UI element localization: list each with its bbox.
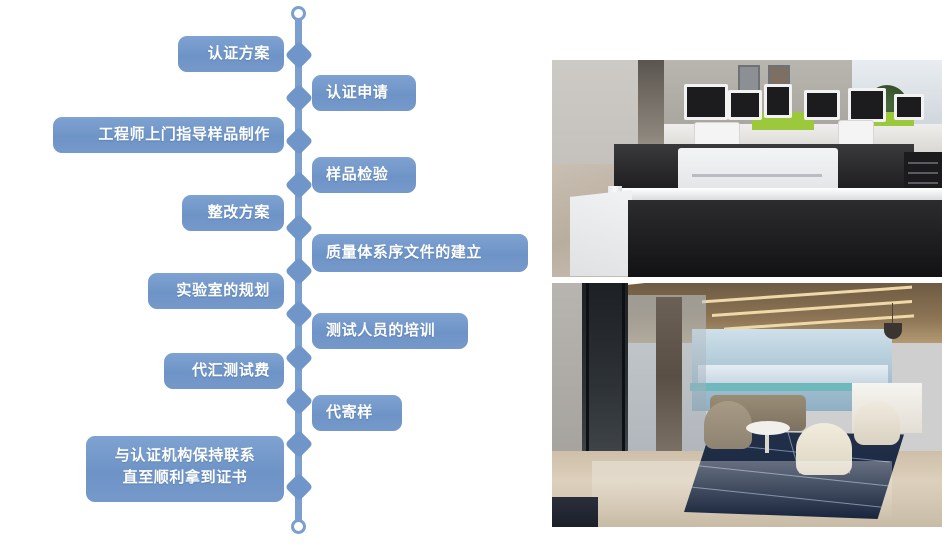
lounge-armchair-3 <box>854 401 900 445</box>
lounge-armchair-1 <box>704 401 752 449</box>
timeline-right-step-4[interactable]: 测试人员的培训 <box>312 313 468 349</box>
timeline-right-step-5-label: 代寄样 <box>326 402 373 424</box>
photo-monitor-4 <box>804 90 840 120</box>
lounge-floor-reflection <box>592 461 892 521</box>
timeline-left-step-4-label: 实验室的规划 <box>176 280 270 302</box>
photo-monitor-2 <box>728 90 762 120</box>
photo-glass-rail <box>610 188 942 200</box>
timeline-left-step-2-label: 工程师上门指导样品制作 <box>98 124 270 146</box>
timeline-node-5 <box>285 214 313 242</box>
photo-glass-divider <box>570 190 632 276</box>
lounge-pendant-wire <box>892 303 893 325</box>
photo-monitor-3 <box>764 84 792 118</box>
timeline-right-step-1[interactable]: 认证申请 <box>312 75 416 111</box>
timeline-node-4 <box>285 171 313 199</box>
timeline-top-endcap-icon <box>291 6 306 21</box>
timeline-node-3 <box>285 127 313 155</box>
timeline-infographic: 认证方案 工程师上门指导样品制作 整改方案 实验室的规划 代汇测试费 与认证机构… <box>0 0 942 545</box>
timeline-left-step-5-label: 代汇测试费 <box>192 360 270 382</box>
timeline-node-11 <box>285 473 313 501</box>
timeline-left-step-3[interactable]: 整改方案 <box>182 195 284 231</box>
timeline-right-step-3-label: 质量体系序文件的建立 <box>326 242 482 264</box>
timeline-node-9 <box>285 387 313 415</box>
photo-foreground-screen <box>628 200 942 277</box>
timeline-node-7 <box>285 300 313 328</box>
timeline-left-step-6-label-line1: 与认证机构保持联系 <box>102 445 268 467</box>
timeline-left-step-1[interactable]: 认证方案 <box>178 36 284 72</box>
timeline-right-step-5[interactable]: 代寄样 <box>312 395 402 431</box>
timeline-node-10 <box>285 430 313 458</box>
timeline-left-step-2[interactable]: 工程师上门指导样品制作 <box>53 117 284 153</box>
timeline-left-step-6-label-line2: 直至顺利拿到证书 <box>102 467 268 489</box>
timeline-left-step-3-label: 整改方案 <box>208 202 270 224</box>
photo-monitor-5 <box>848 88 886 122</box>
timeline-node-1 <box>285 41 313 69</box>
lounge-foreground-furniture <box>552 497 598 527</box>
lounge-mullion-2 <box>622 283 625 459</box>
timeline-right-step-2[interactable]: 样品检验 <box>312 157 416 193</box>
timeline-node-6 <box>285 257 313 285</box>
lounge-mullion-1 <box>586 283 589 459</box>
timeline-right-step-3[interactable]: 质量体系序文件的建立 <box>312 234 528 272</box>
timeline-left-step-1-label: 认证方案 <box>208 43 270 65</box>
timeline-right-step-1-label: 认证申请 <box>326 82 388 104</box>
photo-monitor-1 <box>684 84 728 120</box>
lounge-marble-column <box>656 297 682 457</box>
photo-monitor-6 <box>894 94 924 120</box>
office-workstations-photo <box>552 60 942 277</box>
office-lounge-photo <box>552 283 942 527</box>
timeline-right-step-2-label: 样品检验 <box>326 164 388 186</box>
lounge-coffee-table <box>746 421 790 435</box>
timeline-right-step-4-label: 测试人员的培训 <box>326 320 435 342</box>
timeline-bottom-endcap-icon <box>291 519 306 534</box>
timeline-left-step-4[interactable]: 实验室的规划 <box>148 273 284 309</box>
timeline-node-2 <box>285 84 313 112</box>
timeline-left-step-6[interactable]: 与认证机构保持联系 直至顺利拿到证书 <box>86 436 284 502</box>
timeline-left-step-5[interactable]: 代汇测试费 <box>164 353 284 389</box>
timeline-node-8 <box>285 344 313 372</box>
